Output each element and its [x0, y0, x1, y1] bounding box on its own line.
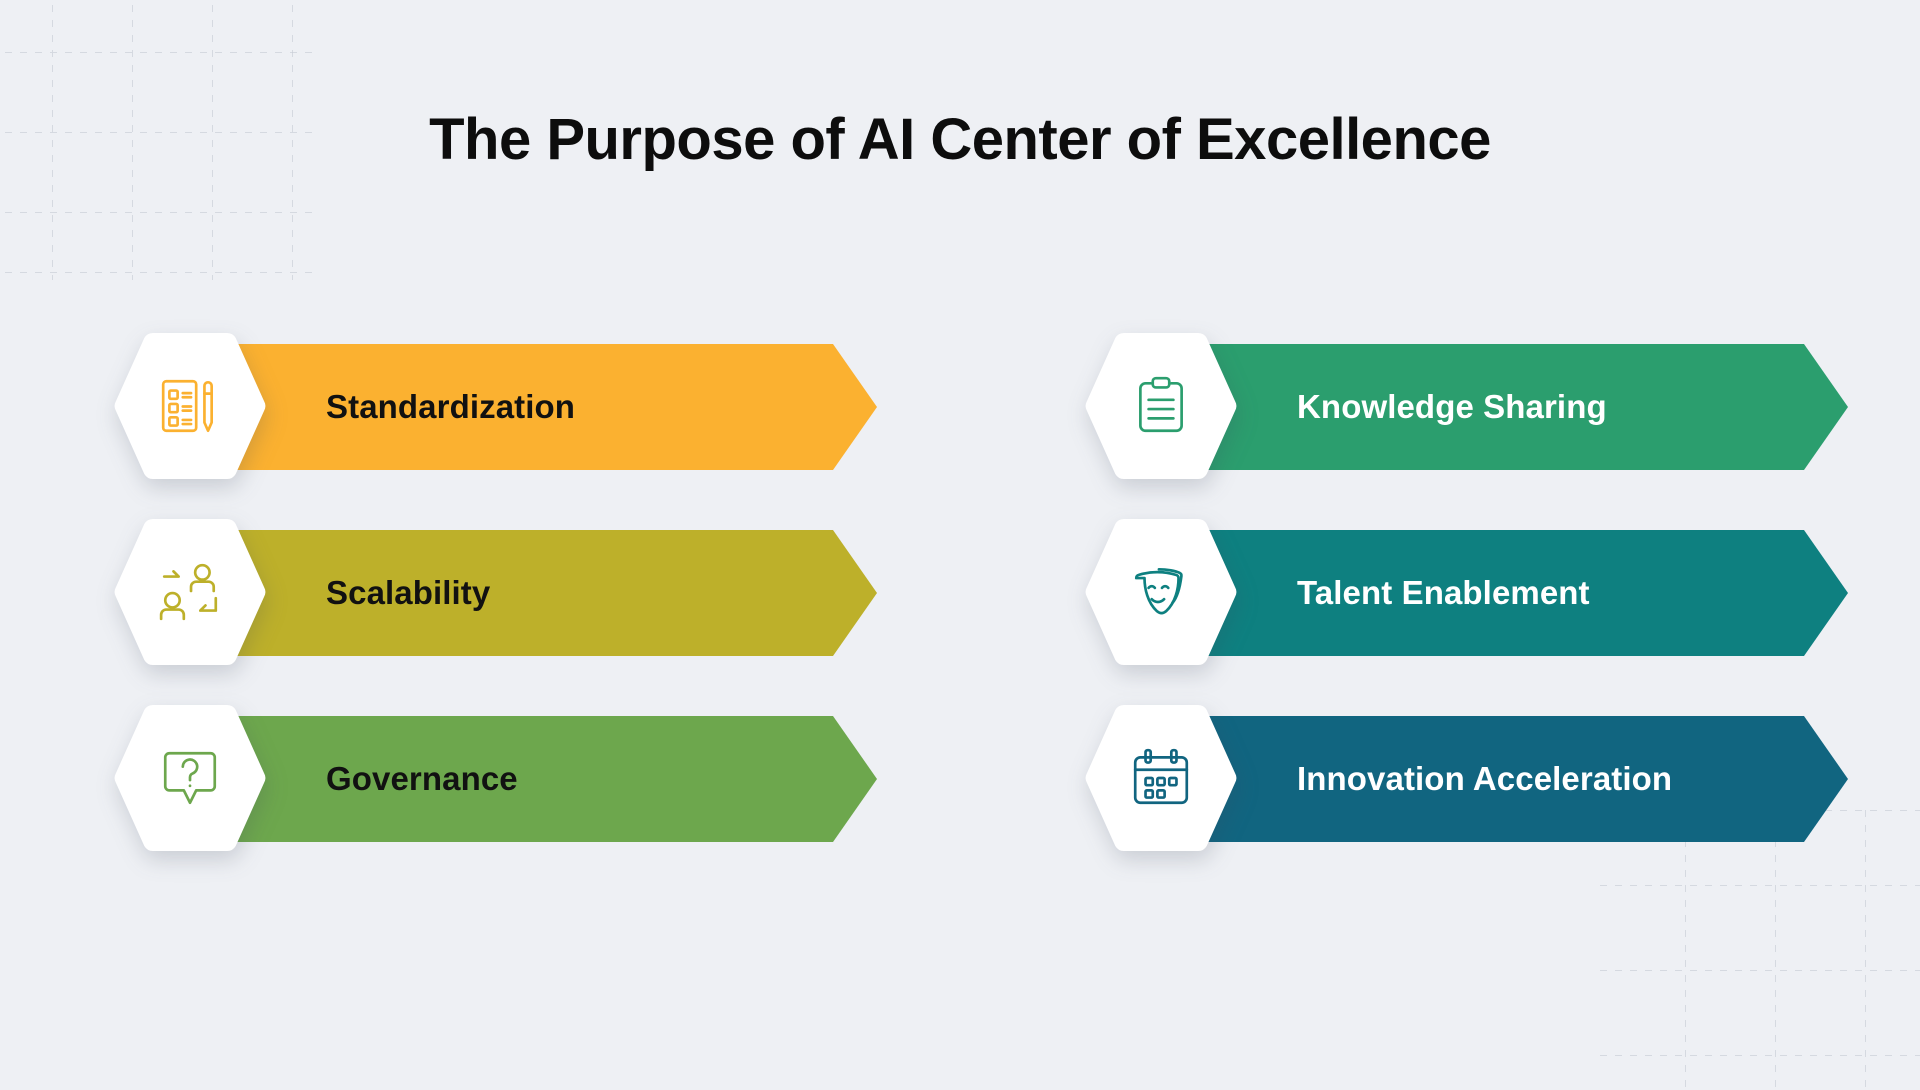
item-banner[interactable]: Knowledge Sharing — [1205, 344, 1848, 470]
item-label: Talent Enablement — [1297, 574, 1590, 612]
column-left: Standardization Scalability Govern — [112, 330, 877, 854]
calendar-icon — [1083, 702, 1239, 854]
item-card[interactable]: Standardization — [112, 330, 877, 482]
item-banner[interactable]: Innovation Acceleration — [1205, 716, 1848, 842]
item-card[interactable]: Governance — [112, 702, 877, 854]
item-card[interactable]: Innovation Acceleration — [1083, 702, 1848, 854]
page-title: The Purpose of AI Center of Excellence — [0, 108, 1920, 172]
item-label: Governance — [326, 760, 518, 798]
item-label: Scalability — [326, 574, 490, 612]
item-card[interactable]: Scalability — [112, 516, 877, 668]
clipboard-icon — [1083, 330, 1239, 482]
item-label: Standardization — [326, 388, 575, 426]
items-board: Standardization Scalability Govern — [0, 330, 1920, 854]
item-banner[interactable]: Governance — [234, 716, 877, 842]
item-label: Innovation Acceleration — [1297, 760, 1672, 798]
checklist-pencil-icon — [112, 330, 268, 482]
item-card[interactable]: Talent Enablement — [1083, 516, 1848, 668]
item-label: Knowledge Sharing — [1297, 388, 1607, 426]
item-banner[interactable]: Talent Enablement — [1205, 530, 1848, 656]
question-speech-bubble-icon — [112, 702, 268, 854]
item-banner[interactable]: Standardization — [234, 344, 877, 470]
column-right: Knowledge Sharing Talent Enablement Inno… — [1083, 330, 1848, 854]
item-banner[interactable]: Scalability — [234, 530, 877, 656]
theater-masks-icon — [1083, 516, 1239, 668]
users-exchange-icon — [112, 516, 268, 668]
item-card[interactable]: Knowledge Sharing — [1083, 330, 1848, 482]
